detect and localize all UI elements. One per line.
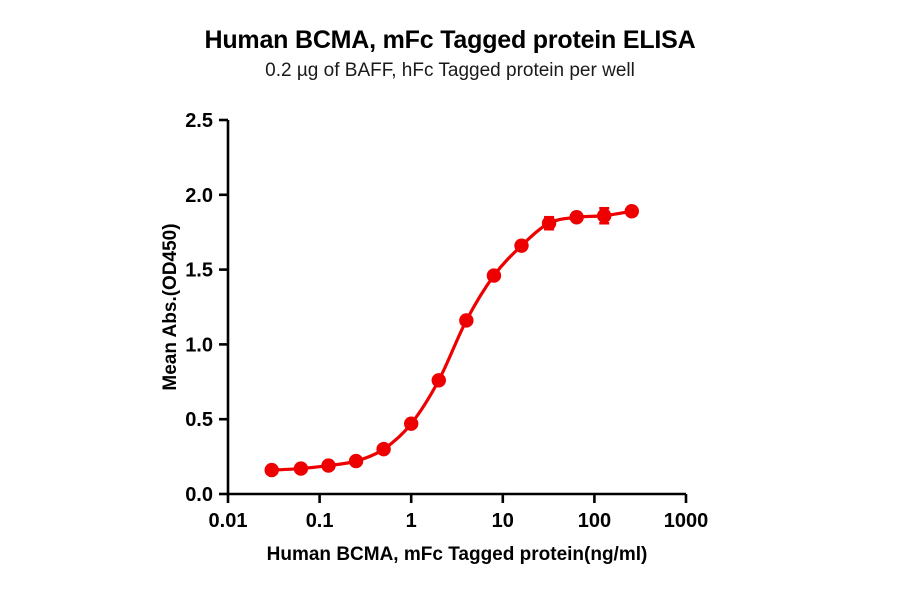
data-point: [432, 373, 446, 387]
data-point: [487, 268, 501, 282]
data-point: [597, 209, 611, 223]
x-tick-label: 1: [406, 510, 417, 532]
data-point: [265, 463, 279, 477]
x-tick-label: 1000: [664, 510, 709, 532]
y-tick-label: 0.0: [185, 484, 213, 506]
y-axis-title: Mean Abs.(OD450): [160, 223, 181, 390]
x-axis-title: Human BCMA, mFc Tagged protein(ng/ml): [267, 544, 648, 565]
x-tick-label: 0.01: [209, 510, 248, 532]
x-axis-ticks: [228, 494, 686, 503]
x-tick-label: 100: [578, 510, 611, 532]
data-point-markers: [265, 204, 639, 477]
data-point: [294, 461, 308, 475]
y-tick-label: 2.5: [185, 110, 213, 132]
y-axis-ticks: [219, 120, 228, 494]
sigmoid-fit-curve: [272, 211, 632, 470]
y-tick-label: 2.0: [185, 185, 213, 207]
elisa-chart-figure: Human BCMA, mFc Tagged protein ELISA 0.2…: [0, 0, 900, 594]
data-point: [625, 204, 639, 218]
data-point: [404, 416, 418, 430]
x-axis-tick-labels: 0.010.11101001000: [209, 510, 709, 532]
data-point: [349, 454, 363, 468]
y-axis-tick-labels: 0.00.51.01.52.02.5: [185, 110, 213, 506]
axis-lines: [228, 120, 686, 494]
x-tick-label: 10: [492, 510, 514, 532]
data-point: [514, 238, 528, 252]
data-point: [321, 458, 335, 472]
y-tick-label: 1.0: [185, 334, 213, 356]
x-tick-label: 0.1: [306, 510, 334, 532]
data-point: [542, 216, 556, 230]
plot-area: 0.00.51.01.52.02.5 0.010.11101001000 Hum…: [0, 0, 900, 594]
data-point: [459, 313, 473, 327]
data-point: [569, 210, 583, 224]
y-tick-label: 0.5: [185, 409, 213, 431]
y-tick-label: 1.5: [185, 260, 213, 282]
data-point: [376, 442, 390, 456]
